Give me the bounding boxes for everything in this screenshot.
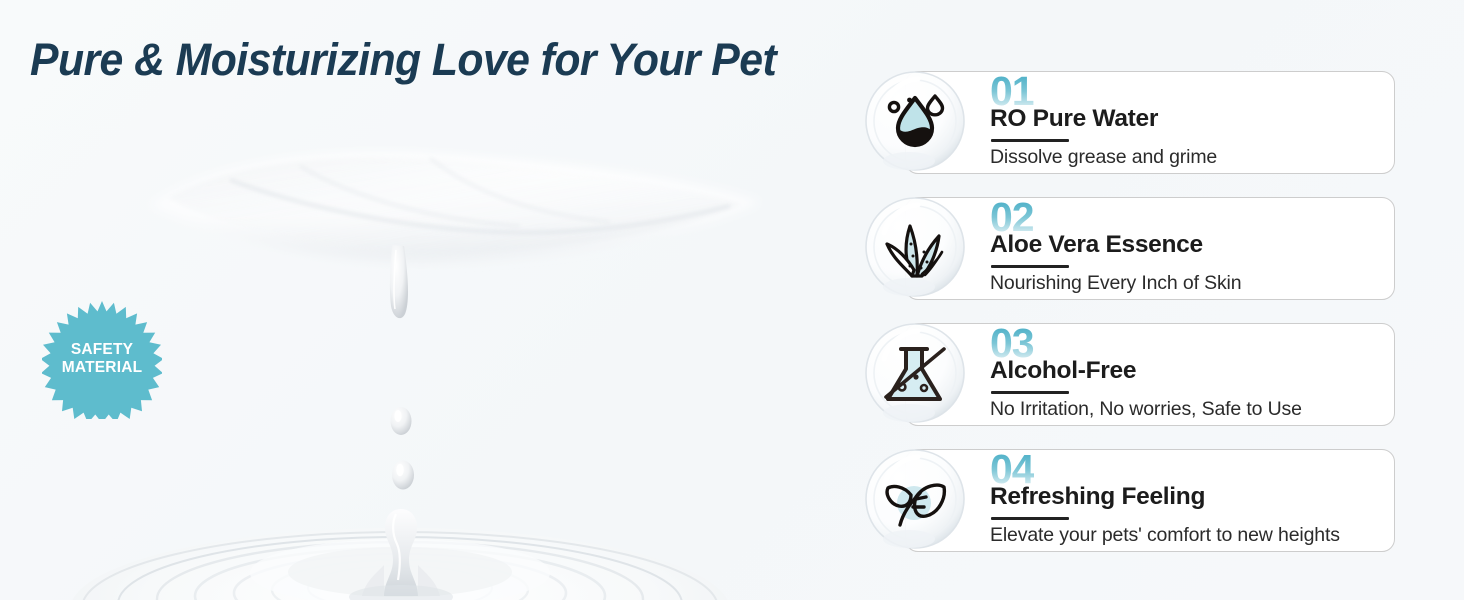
dripping-water-stream [390,245,408,318]
falling-droplet-2 [392,461,414,490]
feature-text: 02 Aloe Vera Essence Nourishing Every In… [990,199,1390,295]
safety-material-badge: SAFETY MATERIAL [42,299,162,419]
feature-item-alcohol-free[interactable]: 03 Alcohol-Free No Irritation, No worrie… [860,315,1405,433]
feature-title: Refreshing Feeling [990,483,1205,511]
feature-description: Elevate your pets' comfort to new height… [990,524,1340,547]
falling-droplet-1 [391,407,412,435]
wet-wipe-cloth [150,153,760,261]
water-droplet-icon [862,69,968,175]
feature-underline [991,517,1069,520]
feature-underline [991,391,1069,394]
feature-item-refreshing-feeling[interactable]: 04 Refreshing Feeling Elevate your pets'… [860,441,1405,559]
feature-description: Dissolve grease and grime [990,146,1217,169]
feature-title: RO Pure Water [990,105,1158,133]
starburst-shape [42,299,162,419]
feature-description: Nourishing Every Inch of Skin [990,272,1241,295]
feature-text: 01 RO Pure Water Dissolve grease and gri… [990,73,1390,169]
feature-title: Alcohol-Free [990,357,1136,385]
feature-description: No Irritation, No worries, Safe to Use [990,398,1302,421]
feature-underline [991,139,1069,142]
feature-text: 04 Refreshing Feeling Elevate your pets'… [990,451,1390,547]
feature-title: Aloe Vera Essence [990,231,1203,259]
promo-banner: Pure & Moisturizing Love for Your Pet [0,0,1464,600]
feature-item-ro-pure-water[interactable]: 01 RO Pure Water Dissolve grease and gri… [860,63,1405,181]
feature-list: 01 RO Pure Water Dissolve grease and gri… [860,60,1405,575]
two-leaves-icon [862,447,968,553]
page-title: Pure & Moisturizing Love for Your Pet [30,34,776,86]
feature-item-aloe-vera-essence[interactable]: 02 Aloe Vera Essence Nourishing Every In… [860,189,1405,307]
feature-text: 03 Alcohol-Free No Irritation, No worrie… [990,325,1390,421]
aloe-vera-plant-icon [862,195,968,301]
no-alcohol-flask-icon [862,321,968,427]
feature-underline [991,265,1069,268]
